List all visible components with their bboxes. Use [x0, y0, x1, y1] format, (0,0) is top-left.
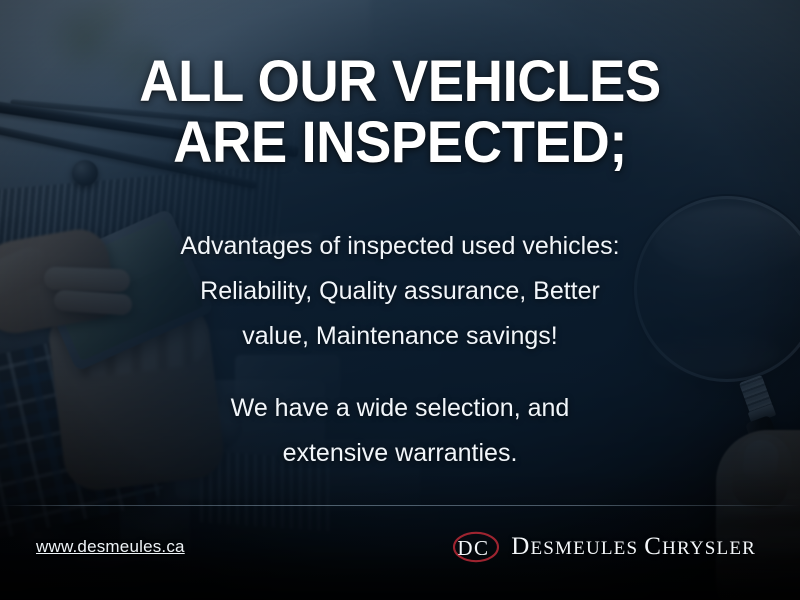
body-copy: Advantages of inspected used vehicles: R… [0, 224, 800, 476]
paragraph-2-line-1: We have a wide selection, and [0, 386, 800, 431]
headline-line-2: ARE INSPECTED; [24, 113, 776, 174]
body-paragraph-1: Advantages of inspected used vehicles: R… [0, 224, 800, 359]
brand-logo[interactable]: D C DESMEULES CHRYSLER [452, 531, 756, 563]
dc-monogram-icon: D C [452, 531, 500, 563]
paragraph-2-line-2: extensive warranties. [0, 431, 800, 476]
brand-word1-rest: ESMEULES [530, 538, 638, 559]
paragraph-1-line-2: Reliability, Quality assurance, Better [0, 269, 800, 314]
website-url-link[interactable]: www.desmeules.ca [36, 537, 185, 557]
headline-line-1: ALL OUR VEHICLES [24, 52, 776, 113]
svg-text:C: C [474, 536, 488, 560]
brand-word2-cap: C [644, 533, 662, 560]
paragraph-1-line-3: value, Maintenance savings! [0, 314, 800, 359]
paragraph-1-line-1: Advantages of inspected used vehicles: [0, 224, 800, 269]
footer-divider [0, 505, 800, 506]
body-paragraph-2: We have a wide selection, and extensive … [0, 386, 800, 476]
brand-word2-rest: HRYSLER [662, 538, 756, 559]
promo-banner: ALL OUR VEHICLES ARE INSPECTED; Advantag… [0, 0, 800, 600]
brand-word1-cap: D [511, 533, 530, 560]
headline: ALL OUR VEHICLES ARE INSPECTED; [24, 52, 776, 174]
svg-text:D: D [458, 536, 473, 560]
banner-content: ALL OUR VEHICLES ARE INSPECTED; Advantag… [0, 0, 800, 600]
paragraph-spacer [0, 359, 800, 386]
brand-name: DESMEULES CHRYSLER [511, 533, 756, 561]
